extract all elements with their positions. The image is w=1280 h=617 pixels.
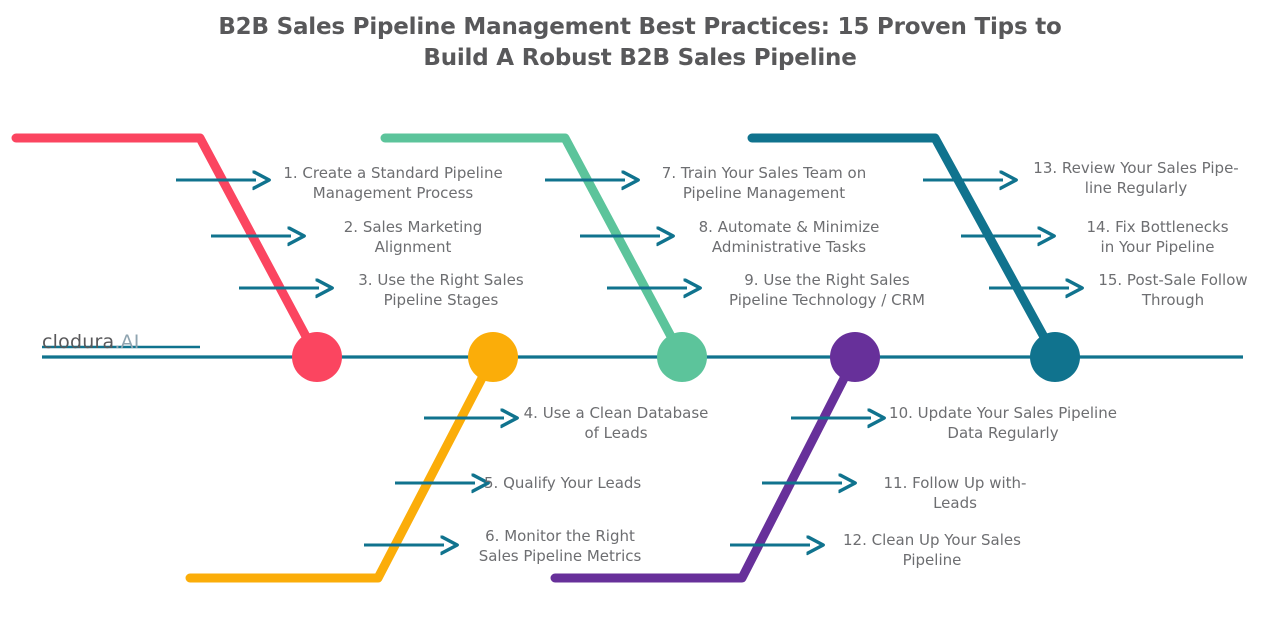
- tip-label-14: 14. Fix Bottlenecks in Your Pipeline: [1050, 217, 1265, 257]
- stage-4-node: [830, 332, 880, 382]
- tip-label-10: 10. Update Your Sales Pipeline Data Regu…: [872, 403, 1134, 443]
- tip-label-7: 7. Train Your Sales Team on Pipeline Man…: [634, 163, 894, 203]
- tip-label-6: 6. Monitor the Right Sales Pipeline Metr…: [443, 526, 677, 566]
- infographic-canvas: B2B Sales Pipeline Management Best Pract…: [0, 0, 1280, 617]
- tip-label-8: 8. Automate & Minimize Administrative Ta…: [669, 217, 909, 257]
- tip-label-4: 4. Use a Clean Database of Leads: [504, 403, 728, 443]
- logo-suffix: .AI: [114, 331, 139, 353]
- tip-label-1: 1. Create a Standard Pipeline Management…: [268, 163, 518, 203]
- stage-5-node: [1030, 332, 1080, 382]
- stage-3-node: [657, 332, 707, 382]
- tip-label-3: 3. Use the Right Sales Pipeline Stages: [331, 270, 551, 310]
- tip-label-13: 13. Review Your Sales Pipe- line Regular…: [1012, 158, 1260, 198]
- stage-2-node: [468, 332, 518, 382]
- stage-1-node: [292, 332, 342, 382]
- logo-name: clodura: [42, 331, 114, 353]
- tip-label-11: 11. Follow Up with- Leads: [845, 473, 1065, 513]
- tip-label-15: 15. Post-Sale Follow Through: [1073, 270, 1273, 310]
- clodura-logo[interactable]: clodura.AI: [42, 331, 140, 353]
- tip-label-5: 5. Qualify Your Leads: [484, 473, 744, 493]
- tip-label-2: 2. Sales Marketing Alignment: [303, 217, 523, 257]
- tip-label-9: 9. Use the Right Sales Pipeline Technolo…: [697, 270, 957, 310]
- tip-label-12: 12. Clean Up Your Sales Pipeline: [815, 530, 1049, 570]
